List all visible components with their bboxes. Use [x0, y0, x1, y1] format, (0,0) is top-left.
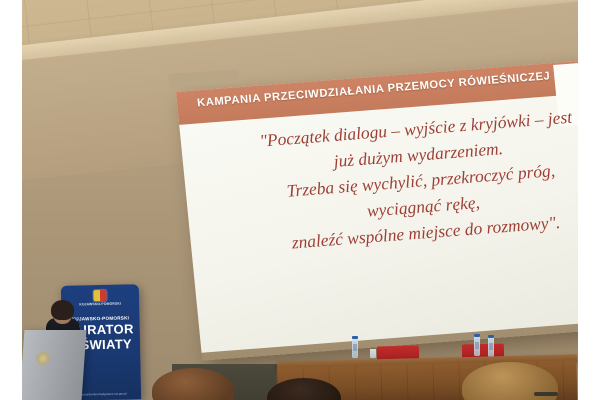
bottle-cap-icon: [474, 334, 480, 337]
drinking-glass: [370, 349, 376, 358]
slide-quote: "Początek dialogu – wyjście z kryjówki –…: [180, 98, 578, 263]
slide-surface: KAMPANIA PRZECIWDZIAŁANIA PRZEMOCY RÓWIE…: [176, 56, 578, 353]
letterbox-left: [0, 0, 22, 400]
bottle-cap-icon: [352, 336, 358, 339]
photo-scene: KAMPANIA PRZECIWDZIAŁANIA PRZEMOCY RÓWIE…: [0, 0, 600, 400]
letterbox-right: [578, 0, 600, 400]
water-bottle: [352, 338, 358, 358]
projection-screen: KAMPANIA PRZECIWDZIAŁANIA PRZEMOCY RÓWIE…: [176, 56, 578, 361]
bottle-cap-icon: [488, 335, 494, 338]
lectern: [22, 330, 86, 400]
presenter-hair: [51, 300, 74, 320]
photograph: KAMPANIA PRZECIWDZIAŁANIA PRZEMOCY RÓWIE…: [22, 0, 578, 400]
coat-of-arms-icon: [93, 290, 106, 301]
water-bottle: [474, 336, 480, 356]
eyeglasses-icon: [534, 392, 558, 396]
lectern-emblem-icon: [36, 352, 50, 365]
water-bottle: [488, 337, 494, 357]
